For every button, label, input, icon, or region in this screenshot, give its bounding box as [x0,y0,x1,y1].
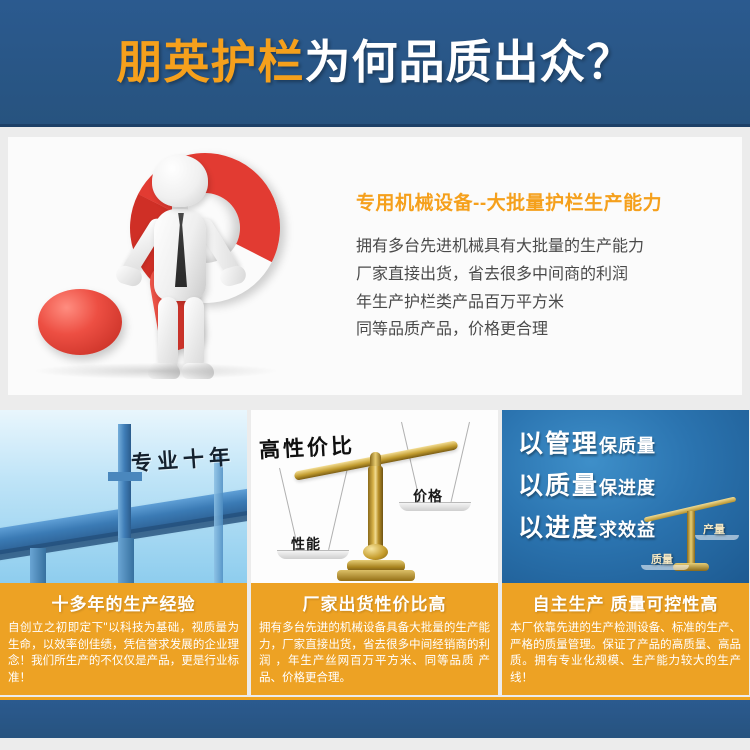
scale-knob [363,544,388,560]
figure-3d-person [122,155,242,381]
mini-balance-scale: 质量 产量 [639,487,743,583]
scale-base-plinth [337,570,415,581]
header-banner: 朋英护栏为何品质出众？ [0,0,750,127]
hero-line: 拥有多台先进机械具有大批量的生产能力 [356,233,726,261]
scale-string [328,468,348,550]
brand-name: 朋英护栏 [117,36,305,88]
card-description: 自创立之初即定下"以科技为基础，视质量为生命，以效率创佳绩，凭信誉求发展的企业理… [8,620,239,687]
footer-banner [0,697,750,738]
page-title: 朋英护栏为何品质出众？ [117,39,634,85]
mini-scale-pan-right-label: 产量 [703,521,725,537]
bridge-pylon-far [214,454,223,583]
feature-card[interactable]: 以管理保质量 以质量保进度 以进度求效益 质量 [502,410,749,695]
feature-card-row: 专业十年 十多年的生产经验 自创立之初即定下"以科技为基础，视质量为生命，以效率… [0,410,750,695]
hero-illustration [26,141,346,391]
header-question: 为何品质出众？ [305,36,634,88]
card-title: 十多年的生产经验 [8,590,239,615]
card-description: 拥有多台先进的机械设备具备大批量的生产能力，厂家直接出货，省去很多中间经销商的利… [259,620,490,687]
figure-shadow [36,363,276,379]
hero-line: 年生产护栏类产品百万平方米 [356,289,726,317]
figure-head [152,155,208,207]
hero-line: 厂家直接出货，省去很多中间商的利润 [356,261,726,289]
slogan-emphasis: 以质量 [518,472,599,500]
card-title: 厂家出货性价比高 [259,590,490,615]
card-body: 厂家出货性价比高 拥有多台先进的机械设备具备大批量的生产能力，厂家直接出货，省去… [251,583,498,695]
slogan-line: 以管理保质量 [518,424,656,460]
balance-scale-illustration: 性能 价格 高性价比 [251,410,498,583]
hero-bullet-list: 拥有多台先进机械具有大批量的生产能力 厂家直接出货，省去很多中间商的利润 年生产… [356,233,726,343]
card-description: 本厂依靠先进的生产检测设备、标准的生产、严格的质量管理。保证了产品的高质量、高品… [510,620,741,687]
bridge-cable [14,432,124,501]
slogan-emphasis: 以进度 [518,514,599,542]
card-media-slogan: 以管理保质量 以质量保进度 以进度求效益 质量 [502,410,749,583]
bridge-pier [30,548,46,583]
slogan-tail: 保质量 [599,436,656,456]
card-media-scale: 性能 价格 高性价比 [251,410,498,583]
hero-line: 同等品质产品，价格更合理 [356,316,726,344]
slogan-line: 以质量保进度 [518,466,656,502]
mini-scale-column [687,511,695,565]
card-body: 自主生产 质量可控性高 本厂依靠先进的生产检测设备、标准的生产、严格的质量管理。… [502,583,749,695]
card-media-bridge: 专业十年 [0,410,247,583]
question-mark-dot [38,289,122,355]
card-body: 十多年的生产经验 自创立之初即定下"以科技为基础，视质量为生命，以效率创佳绩，凭… [0,583,247,695]
promo-page: 朋英护栏为何品质出众？ [0,0,750,750]
scale-pan-right-label: 价格 [413,486,443,506]
hero-text-block: 专用机械设备--大批量护栏生产能力 拥有多台先进机械具有大批量的生产能力 厂家直… [346,188,742,343]
mini-scale-pan-left-label: 质量 [651,551,673,567]
slogan-emphasis: 以管理 [518,430,599,458]
figure-leg-right [184,297,204,371]
slogan-illustration: 以管理保质量 以质量保进度 以进度求效益 质量 [502,410,749,583]
slogan-line: 以进度求效益 [518,508,656,544]
bridge-pier [118,538,134,583]
bridge-illustration: 专业十年 [0,410,247,583]
scale-calligraphy-caption: 高性价比 [258,430,355,465]
feature-card[interactable]: 专业十年 十多年的生产经验 自创立之初即定下"以科技为基础，视质量为生命，以效率… [0,410,247,695]
hero-heading: 专用机械设备--大批量护栏生产能力 [356,188,726,215]
figure-leg-left [158,297,178,371]
scale-string [451,422,470,502]
scale-pan-left-label: 性能 [291,534,321,554]
card-title: 自主生产 质量可控性高 [510,590,741,615]
feature-card[interactable]: 性能 价格 高性价比 厂家出货性价比高 拥有多台先进的机械设备具备大批量的生产能… [251,410,498,695]
hero-panel: 专用机械设备--大批量护栏生产能力 拥有多台先进机械具有大批量的生产能力 厂家直… [8,137,742,395]
